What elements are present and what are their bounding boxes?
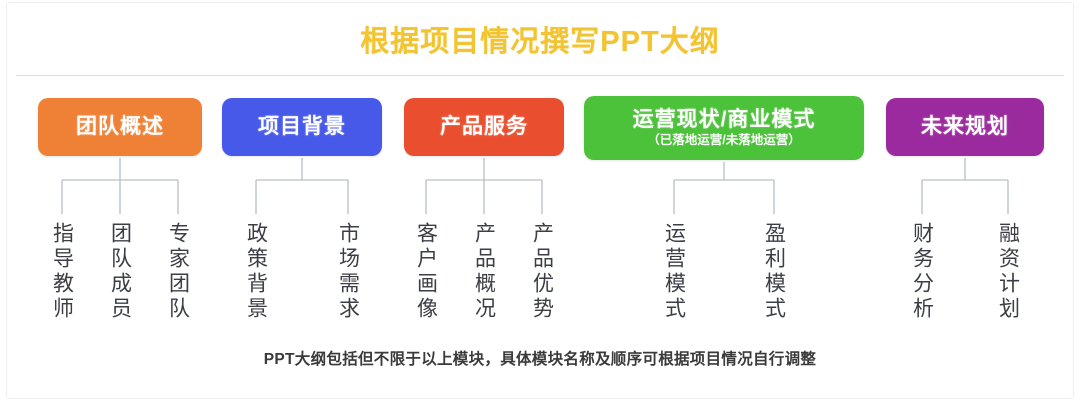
footer-note-text: PPT大纲包括但不限于以上模块，具体模块名称及顺序可根据项目情况自行调整 — [264, 347, 816, 369]
leaf-label-kehuhuaxiang[interactable]: 客户画像 — [416, 222, 437, 322]
leaf-label-zhengcebeijing[interactable]: 政策背景 — [246, 222, 267, 322]
leaf-label-tuanduichengyuan[interactable]: 团队成员 — [110, 222, 131, 322]
slide-root: 根据项目情况撰写PPT大纲 — [0, 0, 1080, 401]
leaf-label-layer: 指导教师 团队成员 专家团队 政策背景 市场需求 客户画像 产品概况 产品优势 … — [0, 0, 1080, 401]
leaf-label-chanpinyoushi[interactable]: 产品优势 — [532, 222, 553, 322]
leaf-label-yinglimoshi[interactable]: 盈利模式 — [764, 222, 785, 322]
leaf-label-shichangxuqiu[interactable]: 市场需求 — [338, 222, 359, 322]
leaf-label-rongzijihua[interactable]: 融资计划 — [998, 222, 1019, 322]
leaf-label-zhuanjiatuandui[interactable]: 专家团队 — [168, 222, 189, 322]
leaf-label-yunyingmoshi[interactable]: 运营模式 — [664, 222, 685, 322]
leaf-label-zhidaojiaoshi[interactable]: 指导教师 — [52, 222, 73, 322]
leaf-label-caiwufenxi[interactable]: 财务分析 — [912, 222, 933, 322]
footer-note: PPT大纲包括但不限于以上模块，具体模块名称及顺序可根据项目情况自行调整 — [0, 347, 1080, 369]
leaf-label-chanpingaikuang[interactable]: 产品概况 — [474, 222, 495, 322]
